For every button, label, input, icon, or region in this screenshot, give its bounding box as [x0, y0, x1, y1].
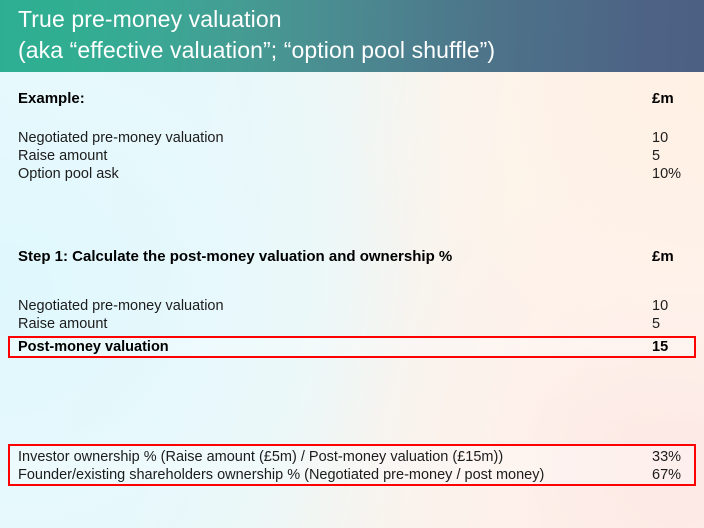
slide-title-line-1: True pre-money valuation	[18, 4, 704, 35]
slide-title-line-2: (aka “effective valuation”; “option pool…	[18, 35, 704, 66]
example-header-row: Example: £m	[18, 89, 686, 109]
step1-row-post-money-valuation: Post-money valuation 15	[18, 337, 686, 357]
row-label: Negotiated pre-money valuation	[18, 296, 224, 316]
example-unit-label: £m	[652, 89, 674, 109]
example-row-negotiated-pre-money: Negotiated pre-money valuation 10	[18, 128, 686, 148]
example-row-raise-amount: Raise amount 5	[18, 146, 686, 166]
step1-row-negotiated-pre-money: Negotiated pre-money valuation 10	[18, 296, 686, 316]
row-label: Raise amount	[18, 314, 107, 334]
row-label: Investor ownership % (Raise amount (£5m)…	[18, 447, 503, 467]
row-label: Option pool ask	[18, 164, 119, 184]
row-label: Raise amount	[18, 146, 107, 166]
slide-header: True pre-money valuation (aka “effective…	[0, 0, 704, 72]
step1-header-row: Step 1: Calculate the post-money valuati…	[18, 247, 686, 267]
example-title: Example:	[18, 89, 85, 109]
row-value: 15	[652, 337, 668, 357]
row-label: Negotiated pre-money valuation	[18, 128, 224, 148]
step1-unit-label: £m	[652, 247, 674, 267]
example-row-option-pool-ask: Option pool ask 10%	[18, 164, 686, 184]
row-label: Post-money valuation	[18, 337, 169, 357]
step1-row-raise-amount: Raise amount 5	[18, 314, 686, 334]
row-value: 10%	[652, 164, 681, 184]
ownership-row-investor: Investor ownership % (Raise amount (£5m)…	[18, 447, 686, 467]
row-value: 5	[652, 146, 660, 166]
slide: True pre-money valuation (aka “effective…	[0, 0, 704, 528]
step1-title: Step 1: Calculate the post-money valuati…	[18, 247, 452, 267]
ownership-row-founder: Founder/existing shareholders ownership …	[18, 465, 686, 485]
row-value: 10	[652, 128, 668, 148]
row-value: 10	[652, 296, 668, 316]
row-value: 33%	[652, 447, 681, 467]
row-label: Founder/existing shareholders ownership …	[18, 465, 544, 485]
row-value: 67%	[652, 465, 681, 485]
row-value: 5	[652, 314, 660, 334]
slide-body: Example: £m Negotiated pre-money valuati…	[0, 72, 704, 528]
